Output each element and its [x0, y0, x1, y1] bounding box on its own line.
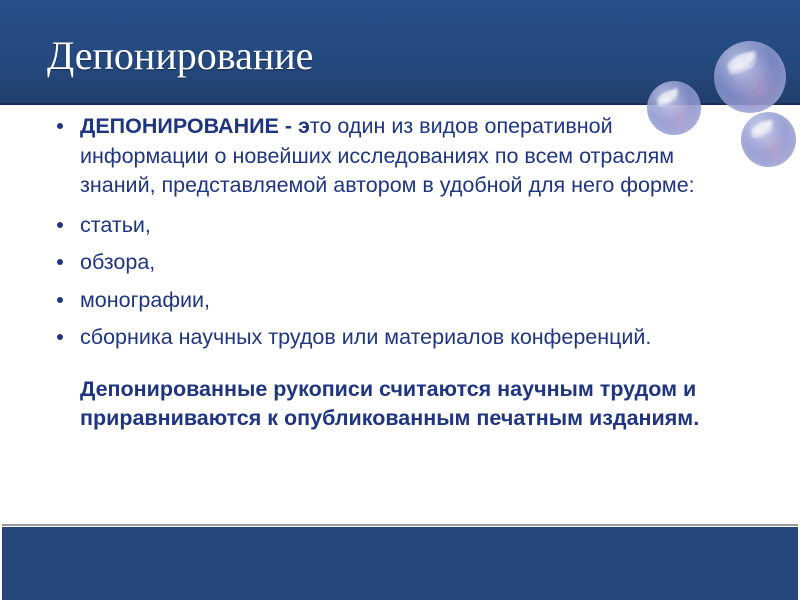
bubble-highlight-a [749, 118, 773, 136]
bullet-marker-icon [57, 297, 63, 303]
list-item-label: сборника научных трудов или материалов к… [80, 325, 651, 349]
slide-footer-band [2, 527, 798, 600]
list-item: сборника научных трудов или материалов к… [48, 323, 738, 353]
slide-title: Депонирование [47, 33, 313, 79]
definition-term: ДЕПОНИРОВАНИЕ - э [80, 114, 310, 138]
bubble-body [741, 112, 796, 167]
bullet-marker-icon [57, 123, 63, 129]
header-divider-line [0, 103, 800, 105]
list-item: обзора, [48, 248, 738, 278]
list-item: монографии, [48, 286, 738, 316]
list-item: статьи, [48, 211, 738, 241]
bullet-marker-icon [57, 259, 63, 265]
bullet-marker-icon [57, 334, 63, 340]
closing-statement: Депонированные рукописи считаются научны… [48, 375, 738, 434]
footer-divider-line [2, 524, 798, 526]
list-item-label: статьи, [80, 213, 151, 237]
bubble-highlight-c [764, 118, 774, 134]
slide-body-content: ДЕПОНИРОВАНИЕ - это один из видов операт… [48, 112, 738, 440]
bubble-highlight-b [751, 128, 769, 139]
list-item-label: обзора, [80, 250, 155, 274]
bubble-small-icon [741, 112, 796, 167]
presentation-slide: Депонирование ДЕПОНИРОВАНИЕ - это один и… [0, 0, 800, 600]
bullet-paragraph-definition: ДЕПОНИРОВАНИЕ - это один из видов операт… [48, 112, 738, 201]
list-item-label: монографии, [80, 288, 210, 312]
bullet-marker-icon [57, 222, 63, 228]
